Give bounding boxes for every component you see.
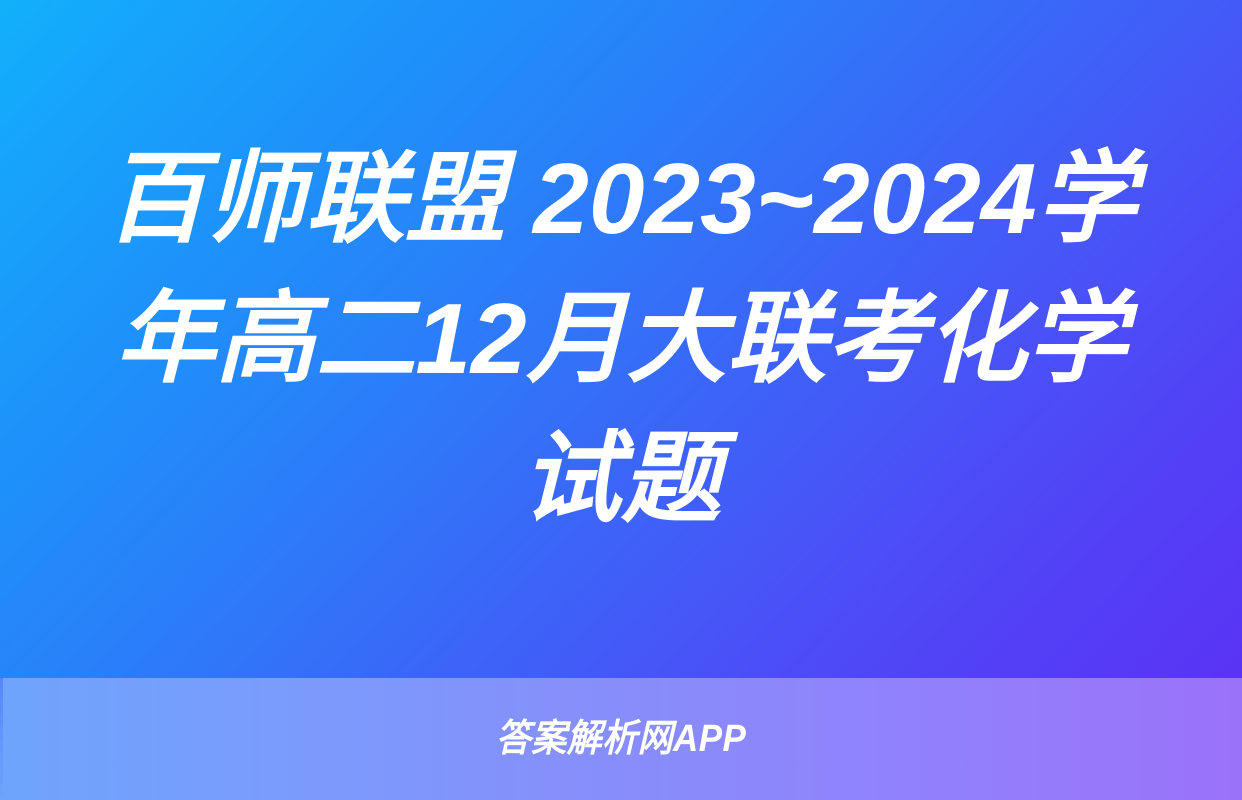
hero-banner: 百师联盟 2023~2024学年高二12月大联考化学试题 [0,0,1242,678]
strip-left-edge [0,678,3,800]
app-brand-label: 答案解析网APP [496,720,746,758]
exam-title-card: 百师联盟 2023~2024学年高二12月大联考化学试题 答案解析网APP [0,0,1242,800]
app-watermark-bar: 答案解析网APP [0,678,1242,800]
page-title: 百师联盟 2023~2024学年高二12月大联考化学试题 [86,129,1156,549]
